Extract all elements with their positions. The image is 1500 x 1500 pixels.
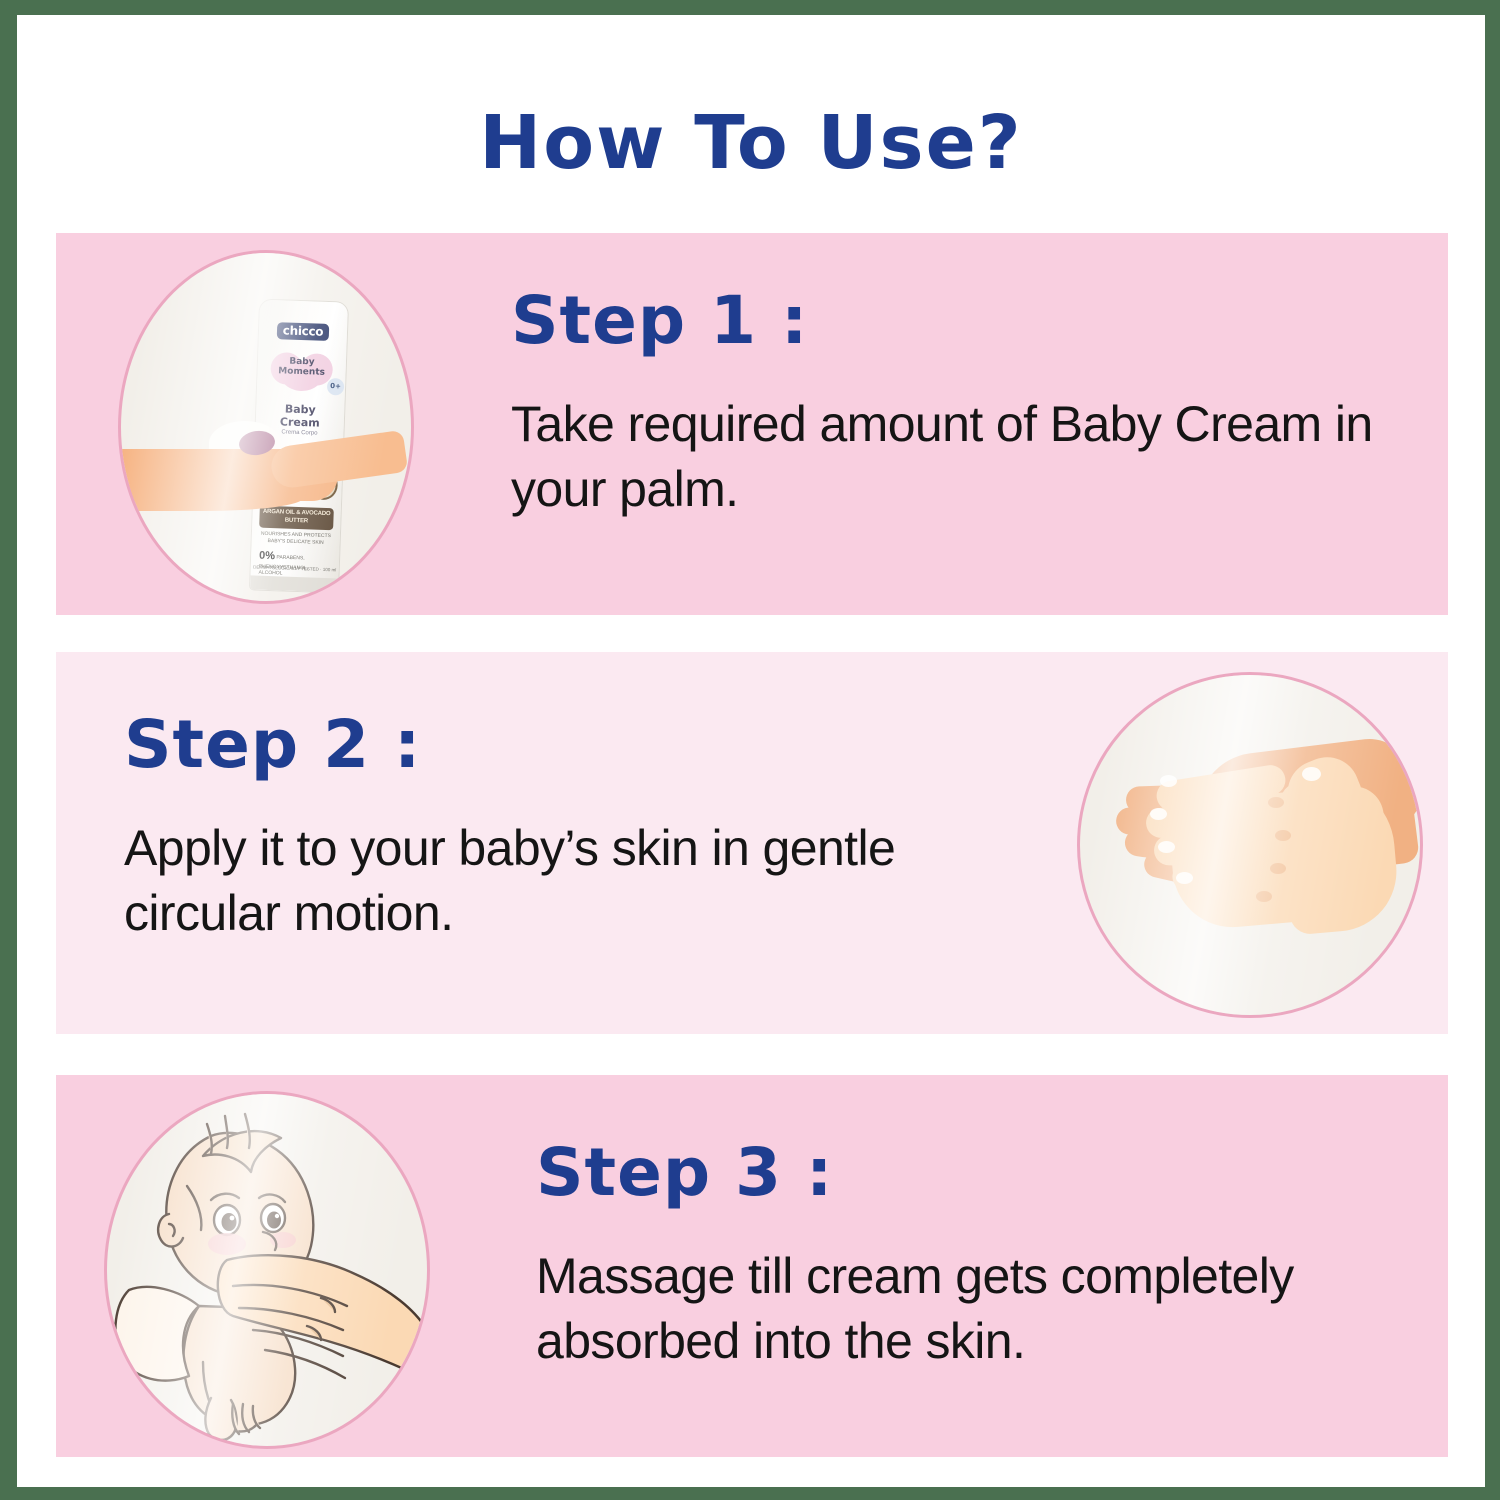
knuckle-shape [1275, 830, 1291, 841]
step-1-body: Take required amount of Baby Cream in yo… [511, 392, 1416, 522]
fingernail-shape [1158, 841, 1175, 853]
page-frame: How To Use? chicco Baby Moments 0+ B [0, 0, 1500, 1500]
step-panel-1: chicco Baby Moments 0+ Baby Cream Crema … [56, 233, 1448, 615]
step-1-heading: Step 1 : [511, 288, 1416, 354]
chicco-logo: chicco [277, 322, 330, 341]
tube-cap [250, 575, 338, 592]
ingredient-band: ARGAN OIL & AVOCADO BUTTER [259, 506, 334, 531]
fingernail-shape [1150, 808, 1167, 820]
step-3-text: Step 3 : Massage till cream gets complet… [536, 1140, 1436, 1374]
baby-moments-heart-icon: Baby Moments [269, 348, 334, 394]
step-2-text: Step 2 : Apply it to your baby’s skin in… [124, 712, 1024, 946]
fingernail-shape [1176, 872, 1193, 884]
content-canvas: How To Use? chicco Baby Moments 0+ B [17, 15, 1485, 1487]
step-3-body: Massage till cream gets completely absor… [536, 1244, 1436, 1374]
step-1-image: chicco Baby Moments 0+ Baby Cream Crema … [118, 250, 414, 604]
product-claim: NOURISHES AND PROTECTS BABY'S DELICATE S… [258, 531, 334, 547]
product-range-line2: Moments [269, 366, 333, 379]
step-panel-2: Step 2 : Apply it to your baby’s skin in… [56, 652, 1448, 1034]
knuckle-shape [1268, 797, 1284, 808]
step-3-heading: Step 3 : [536, 1140, 1436, 1206]
knuckle-shape [1256, 891, 1272, 902]
page-title: How To Use? [17, 100, 1485, 186]
baby-illustration [107, 1094, 427, 1446]
age-badge: 0+ [327, 378, 345, 396]
thumbnail-shape [1302, 767, 1321, 781]
step-3-image [104, 1091, 430, 1449]
fingernail-shape [1160, 775, 1177, 787]
step-1-text: Step 1 : Take required amount of Baby Cr… [511, 288, 1416, 522]
zero-percent-value: 0% [259, 550, 275, 563]
step-2-heading: Step 2 : [124, 712, 1024, 778]
step-2-body: Apply it to your baby’s skin in gentle c… [124, 816, 1024, 946]
step-2-image [1077, 672, 1423, 1018]
step-panel-3: Step 3 : Massage till cream gets complet… [56, 1075, 1448, 1457]
knuckle-shape [1270, 863, 1286, 874]
